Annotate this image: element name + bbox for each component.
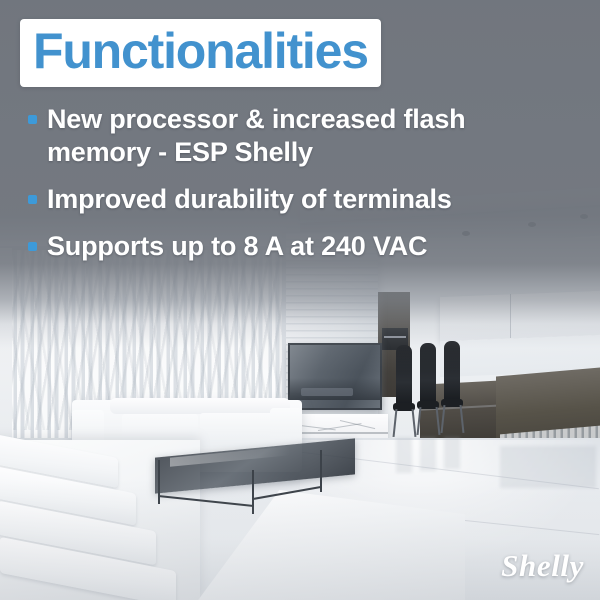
bullet-square-icon [28,195,37,204]
list-item: Improved durability of terminals [28,183,528,216]
shelly-logo: Shelly [501,548,584,584]
list-item: Supports up to 8 A at 240 VAC [28,230,528,263]
title-badge: Functionalities [20,19,381,87]
bullet-square-icon [28,115,37,124]
promo-poster: Functionalities New processor & increase… [0,0,600,600]
bullet-square-icon [28,242,37,251]
poster-content: Functionalities New processor & increase… [0,0,600,600]
page-title: Functionalities [33,23,368,79]
list-item: New processor & increased flash memory -… [28,103,528,169]
list-item-label: Improved durability of terminals [47,183,452,216]
list-item-label: Supports up to 8 A at 240 VAC [47,230,427,263]
list-item-label: New processor & increased flash memory -… [47,103,528,169]
feature-list: New processor & increased flash memory -… [28,103,528,277]
